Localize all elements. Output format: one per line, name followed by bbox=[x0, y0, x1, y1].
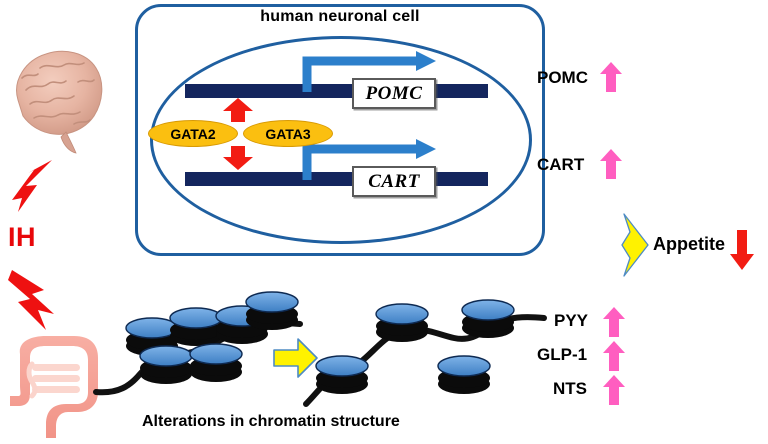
output-label-nts: NTS bbox=[553, 379, 587, 399]
pink-up-arrow-icon-pyy bbox=[603, 307, 625, 337]
ih-label: IH bbox=[8, 222, 36, 253]
chromatin-decondensed-cluster bbox=[312, 296, 544, 406]
brain-illustration bbox=[4, 38, 108, 156]
output-label-pomc: POMC bbox=[537, 68, 588, 88]
gata3-node: GATA3 bbox=[243, 120, 333, 147]
red-down-arrow-icon-cart bbox=[222, 146, 254, 170]
pink-up-arrow-icon-glp1 bbox=[603, 341, 625, 371]
intestine-illustration bbox=[2, 330, 114, 442]
gata2-node: GATA2 bbox=[148, 120, 238, 147]
pink-up-arrow-icon-nts bbox=[603, 375, 625, 405]
output-label-pyy: PYY bbox=[554, 311, 588, 331]
output-label-cart: CART bbox=[537, 155, 584, 175]
output-label-glp1: GLP-1 bbox=[537, 345, 587, 365]
cell-title: human neuronal cell bbox=[135, 8, 545, 26]
appetite-label: Appetite bbox=[653, 234, 725, 255]
figure-caption: Alterations in chromatin structure bbox=[142, 413, 400, 431]
pink-up-arrow-icon-pomc bbox=[600, 62, 622, 92]
pink-up-arrow-icon-cart bbox=[600, 149, 622, 179]
gene-label-cart: CART bbox=[352, 166, 436, 197]
lightning-bolt-icon-upper bbox=[12, 160, 58, 222]
lightning-bolt-icon-lower bbox=[8, 268, 60, 334]
chromatin-condensed-cluster bbox=[100, 298, 300, 406]
gene-label-pomc: POMC bbox=[352, 78, 436, 109]
red-down-arrow-icon-appetite bbox=[730, 230, 754, 270]
yellow-arrow-icon-appetite bbox=[622, 214, 650, 276]
red-up-arrow-icon-pomc bbox=[222, 98, 254, 122]
figure-canvas: IH human neuronal cell bbox=[0, 0, 768, 444]
